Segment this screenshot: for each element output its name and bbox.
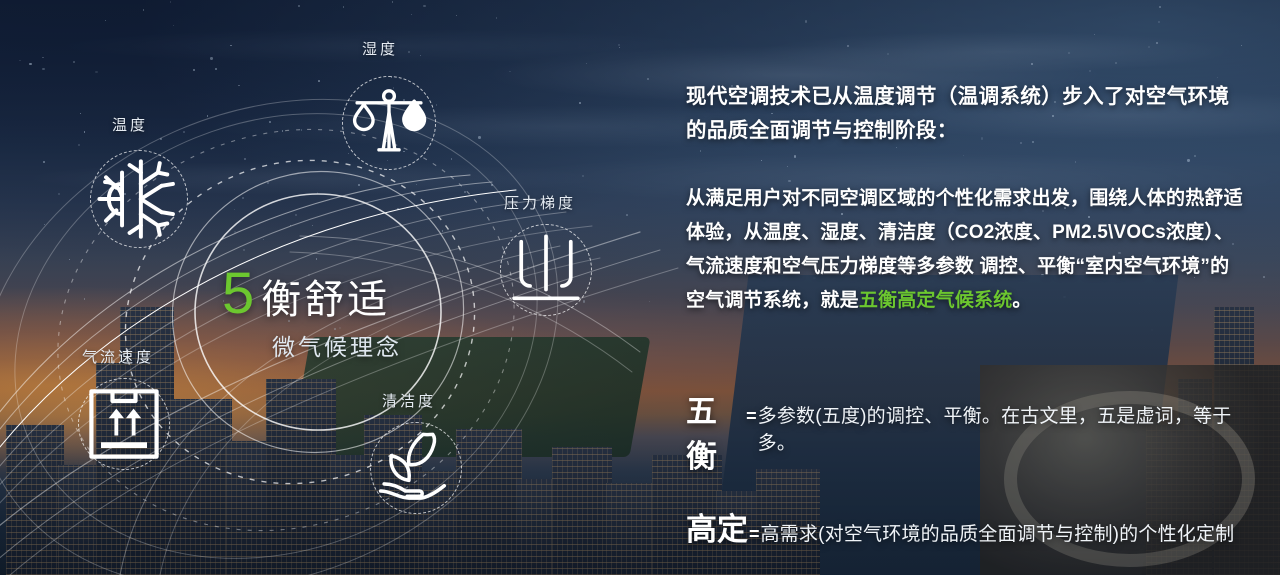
body-paragraph: 从满足用户对不同空调区域的个性化需求出发，围绕人体的热舒适体验，从温度、湿度、清… [686, 182, 1244, 318]
node-pressure-gradient[interactable]: 压力梯度 [500, 224, 592, 316]
node-cleanliness[interactable]: 清洁度 [370, 422, 462, 514]
definition-equals: = [746, 406, 757, 427]
definition-body: 多参数(五度)的调控、平衡。在古文里，五是虚词，等于多。 [758, 401, 1246, 455]
slide-canvas: 温度 湿度 [0, 0, 1280, 575]
node-airflow-speed[interactable]: 气流速度 [78, 378, 170, 470]
node-label: 湿度 [362, 38, 398, 59]
node-humidity[interactable]: 湿度 [342, 76, 436, 170]
definition-row: 高定 = 高需求(对空气环境的品质全面调节与控制)的个性化定制 [686, 504, 1246, 549]
diagram-center-text: 5 衡舒适 微气候理念 [222, 268, 402, 362]
definition-term: 高定 [686, 504, 748, 549]
definitions-list: 五衡 = 多参数(五度)的调控、平衡。在古文里，五是虚词，等于多。 高定 = 高… [686, 386, 1246, 575]
node-temperature[interactable]: 温度 [90, 150, 188, 248]
hand-leaf-icon [370, 422, 462, 514]
humidity-balance-scale-icon [342, 76, 436, 170]
definition-term: 五衡 [686, 386, 745, 476]
copy-column: 现代空调技术已从温度调节（温调系统）步入了对空气环境的品质全面调节与控制阶段： … [686, 0, 1246, 575]
definition-row: 五衡 = 多参数(五度)的调控、平衡。在古文里，五是虚词，等于多。 [686, 386, 1246, 476]
center-sub-text: 微气候理念 [272, 328, 402, 362]
node-label: 气流速度 [82, 346, 154, 367]
pressure-gradient-icon [500, 224, 592, 316]
airflow-vent-icon [78, 378, 170, 470]
node-label: 清洁度 [382, 390, 436, 411]
headline: 现代空调技术已从温度调节（温调系统）步入了对空气环境的品质全面调节与控制阶段： [686, 80, 1242, 148]
definition-equals: = [749, 524, 760, 545]
center-main-text: 衡舒适 [261, 274, 390, 326]
center-number: 5 [222, 268, 254, 320]
paragraph-highlight: 五衡高定气候系统 [859, 290, 1013, 311]
definition-body: 高需求(对空气环境的品质全面调节与控制)的个性化定制 [761, 519, 1235, 546]
paragraph-post: 。 [1012, 290, 1031, 311]
node-label: 温度 [112, 114, 148, 135]
five-balance-diagram: 温度 湿度 [0, 0, 680, 575]
sun-snowflake-icon [90, 150, 188, 248]
node-label: 压力梯度 [504, 192, 576, 213]
